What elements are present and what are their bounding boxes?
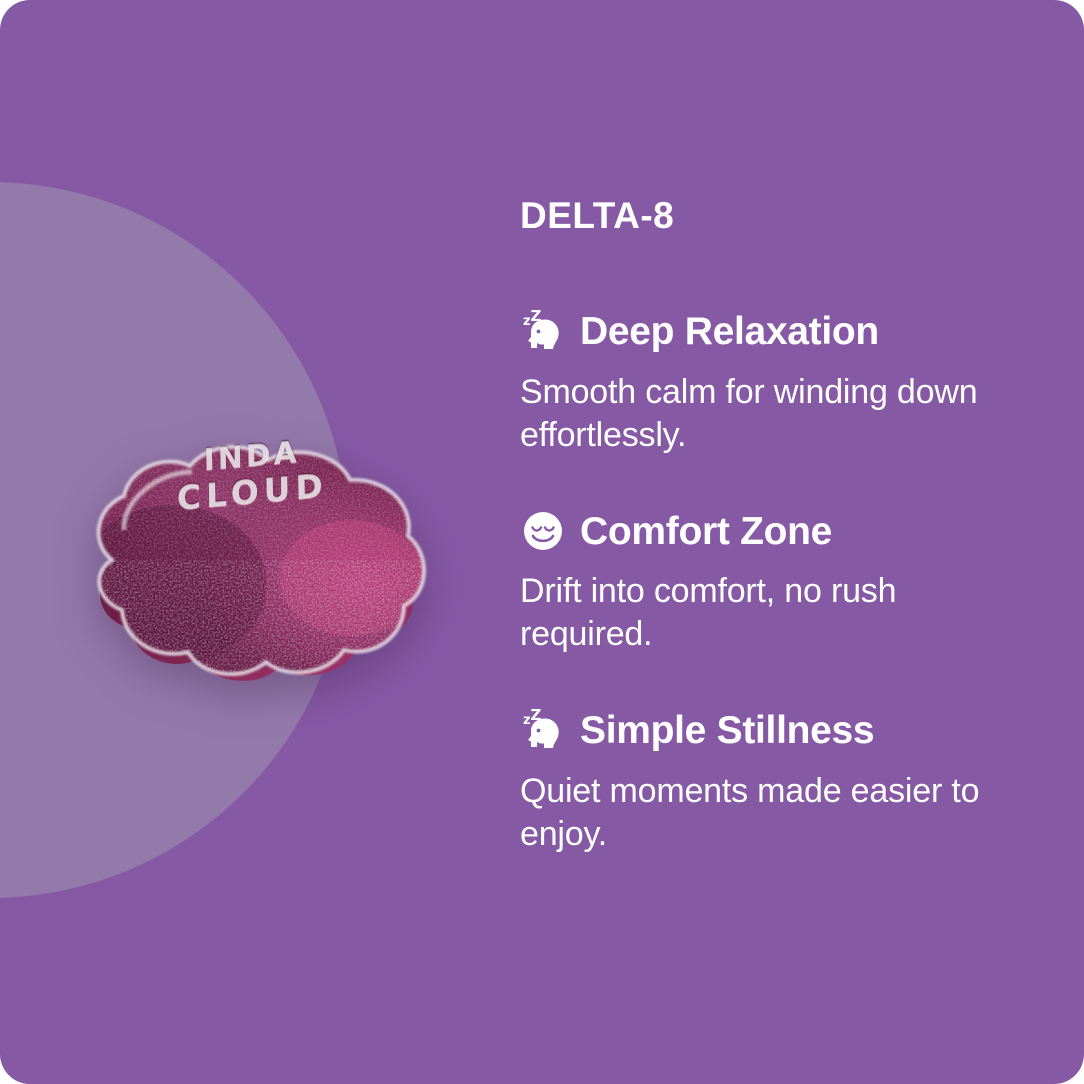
content-column: DELTA-8 z Z Deep Relaxation Smooth calm … [520, 196, 1020, 856]
feature-item: z Z Simple Stillness Quiet moments made … [520, 708, 1020, 856]
sleeping-head-icon: z Z [520, 309, 566, 355]
feature-heading: Comfort Zone [580, 510, 832, 554]
page-title: DELTA-8 [520, 196, 1020, 237]
feature-header: z Z Simple Stillness [520, 708, 1020, 754]
feature-header: Comfort Zone [520, 508, 1020, 554]
feature-body: Smooth calm for winding down effortlessl… [520, 371, 1000, 457]
feature-body: Drift into comfort, no rush required. [520, 570, 1000, 656]
feature-heading: Simple Stillness [580, 709, 874, 753]
feature-item: z Z Deep Relaxation Smooth calm for wind… [520, 309, 1020, 457]
gummy-graphic [52, 410, 452, 710]
relieved-face-icon [520, 508, 566, 554]
sleeping-head-icon: z Z [520, 708, 566, 754]
feature-item: Comfort Zone Drift into comfort, no rush… [520, 508, 1020, 656]
feature-body: Quiet moments made easier to enjoy. [520, 770, 1000, 856]
svg-text:z: z [523, 314, 531, 329]
svg-text:z: z [523, 713, 531, 728]
feature-heading: Deep Relaxation [580, 310, 879, 354]
product-feature-card: INDA CLOUD DELTA-8 z Z Deep Relaxation S… [0, 0, 1084, 1084]
feature-header: z Z Deep Relaxation [520, 309, 1020, 355]
product-image: INDA CLOUD [52, 410, 452, 710]
